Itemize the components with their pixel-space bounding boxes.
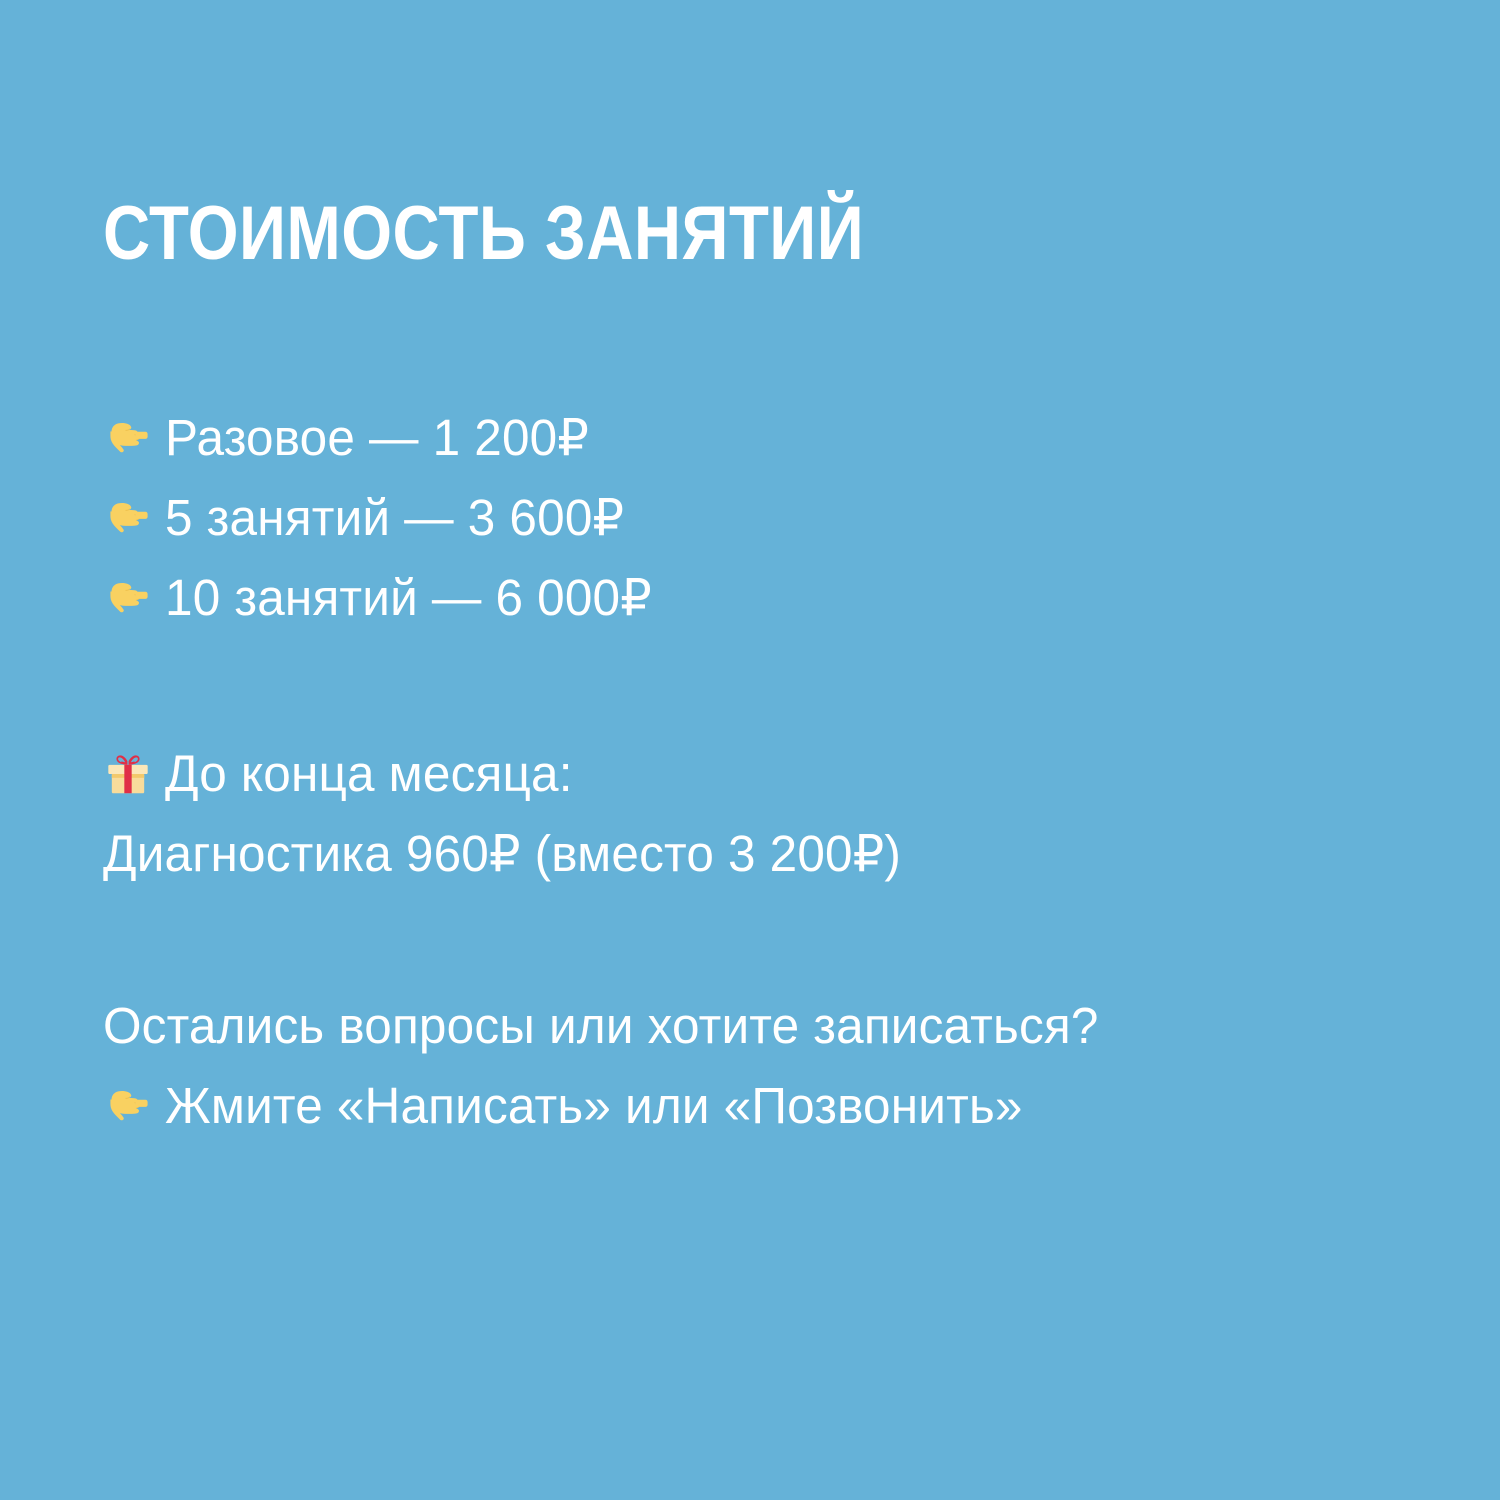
page-title: СТОИМОСТЬ ЗАНЯТИЙ	[103, 192, 864, 276]
cta-action-row: Жмите «Написать» или «Позвонить»	[100, 1066, 1430, 1146]
gift-icon	[100, 746, 156, 802]
cta-question-row: Остались вопросы или хотите записаться?	[100, 986, 1430, 1066]
price-item-single: Разовое — 1 200₽	[100, 398, 1430, 478]
promo-heading-row: До конца месяца:	[100, 734, 1430, 814]
price-item-5: 5 занятий — 3 600₽	[100, 478, 1430, 558]
spacer	[100, 638, 1430, 734]
promo-detail: Диагностика 960₽ (вместо 3 200₽)	[103, 825, 901, 883]
cta-action: Жмите «Написать» или «Позвонить»	[165, 1077, 1023, 1135]
price-item-label: Разовое — 1 200₽	[165, 409, 589, 467]
spacer	[100, 894, 1430, 986]
pointing-hand-right-icon	[100, 1078, 156, 1134]
pointing-hand-right-icon	[100, 410, 156, 466]
pointing-hand-right-icon	[100, 490, 156, 546]
content-body: Разовое — 1 200₽ 5 занятий — 3 600₽ 10 з…	[100, 398, 1430, 1146]
promo-detail-row: Диагностика 960₽ (вместо 3 200₽)	[100, 814, 1430, 894]
pointing-hand-right-icon	[100, 570, 156, 626]
slide-canvas: СТОИМОСТЬ ЗАНЯТИЙ Разовое — 1 200₽ 5 зан…	[0, 0, 1500, 1500]
promo-heading: До конца месяца:	[165, 745, 573, 803]
price-item-10: 10 занятий — 6 000₽	[100, 558, 1430, 638]
price-item-label: 5 занятий — 3 600₽	[165, 489, 624, 547]
price-item-label: 10 занятий — 6 000₽	[165, 569, 652, 627]
cta-question: Остались вопросы или хотите записаться?	[103, 997, 1099, 1055]
